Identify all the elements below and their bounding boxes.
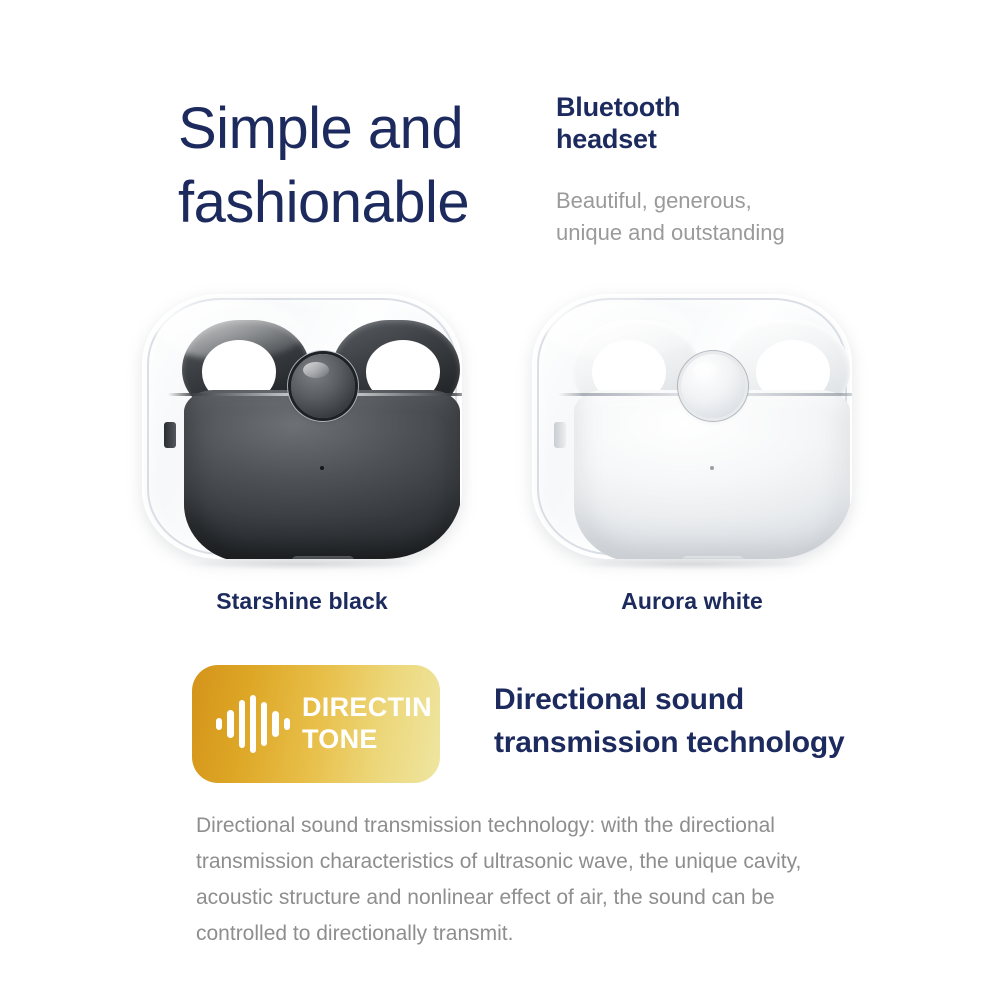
earbuds-case-image-white xyxy=(512,286,872,576)
product-tagline: Beautiful, generous, unique and outstand… xyxy=(556,185,896,249)
wave-bar xyxy=(239,700,245,748)
wave-bar xyxy=(261,702,267,746)
product-color-label: Starshine black xyxy=(122,588,482,615)
tagline-line-1: Beautiful, generous, xyxy=(556,188,752,213)
wave-bar xyxy=(216,718,222,730)
tagline-line-2: unique and outstanding xyxy=(556,220,785,245)
product-gallery: Starshine black xyxy=(0,286,1000,576)
feature-heading-line-1: Directional sound xyxy=(494,683,744,716)
product-color-label: Aurora white xyxy=(512,588,872,615)
product-type-line-2: headset xyxy=(556,124,657,154)
product-marketing-page: Simple and fashionable Bluetooth headset… xyxy=(0,0,1000,1000)
page-title: Simple and fashionable xyxy=(178,92,548,240)
feature-description: Directional sound transmission technolog… xyxy=(196,808,826,952)
badge-brand-line-1: DIRECTIN xyxy=(302,692,432,722)
product-item-starshine-black[interactable]: Starshine black xyxy=(122,286,482,576)
headline-line-1: Simple and xyxy=(178,96,463,161)
drop-shadow xyxy=(572,558,812,570)
product-type-heading: Bluetooth headset xyxy=(556,92,886,156)
wave-bar xyxy=(284,718,290,730)
directin-tone-badge: DIRECTIN TONE xyxy=(192,665,440,783)
status-led-dot xyxy=(320,466,324,470)
drop-shadow xyxy=(182,558,422,570)
product-type-line-1: Bluetooth xyxy=(556,92,680,122)
feature-heading: Directional sound transmission technolog… xyxy=(494,679,894,764)
earbuds-case-image-black xyxy=(122,286,482,576)
badge-brand-line-2: TONE xyxy=(302,724,378,754)
wave-bar xyxy=(227,710,233,738)
badge-brand-text: DIRECTIN TONE xyxy=(302,692,432,756)
product-item-aurora-white[interactable]: Aurora white xyxy=(512,286,872,576)
feature-heading-line-2: transmission technology xyxy=(494,726,844,759)
sound-wave-icon xyxy=(216,695,290,753)
transparent-case-shell xyxy=(532,294,852,559)
case-hinge-button xyxy=(291,354,355,418)
transparent-case-shell xyxy=(142,294,462,559)
wave-bar xyxy=(250,695,256,753)
wave-bar xyxy=(272,711,278,737)
case-side-button xyxy=(164,422,176,448)
status-led-dot xyxy=(710,466,714,470)
case-hinge-button xyxy=(681,354,745,418)
case-side-button xyxy=(554,422,566,448)
headline-line-2: fashionable xyxy=(178,166,548,240)
